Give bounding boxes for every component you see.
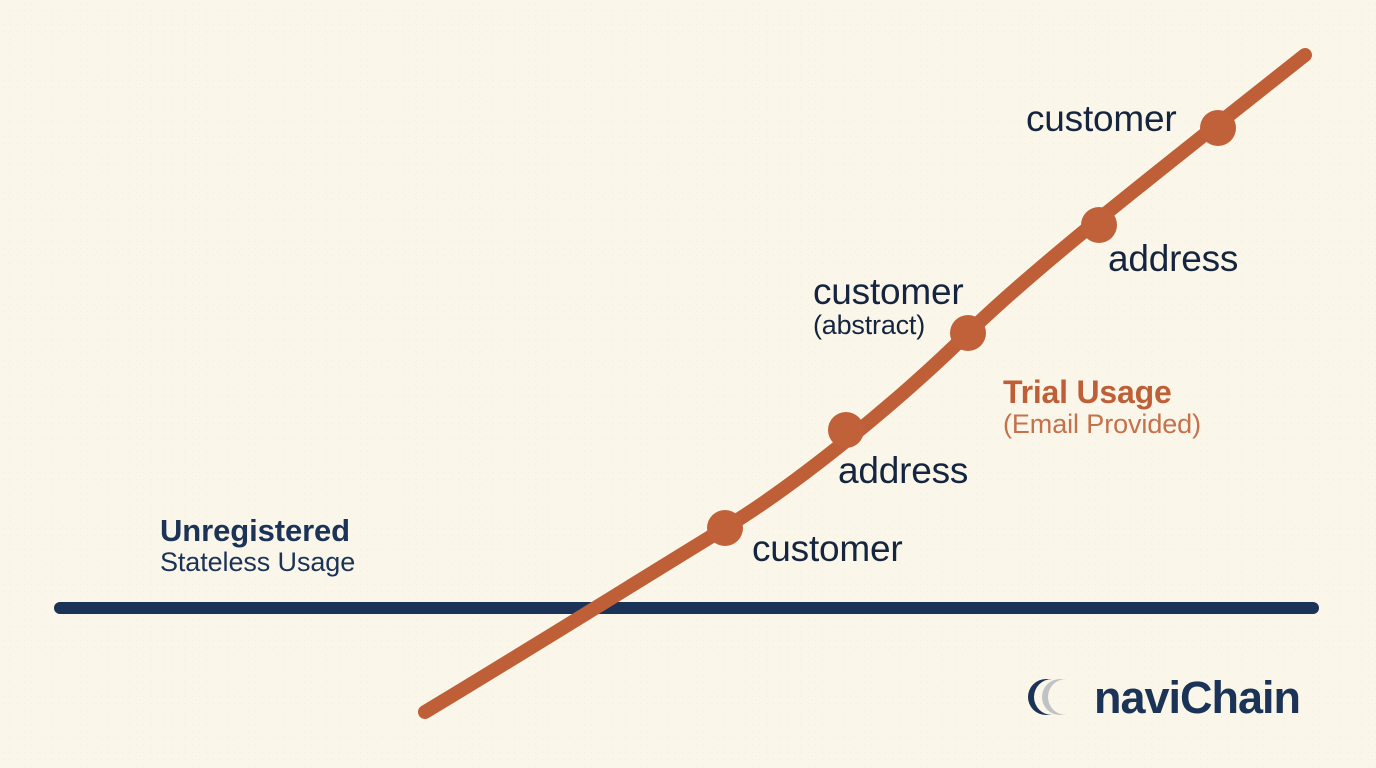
curve-node-customer-2 bbox=[1200, 110, 1236, 146]
node-label-customer-abstract: customer (abstract) bbox=[813, 273, 964, 340]
trial-title: Trial Usage bbox=[1003, 376, 1201, 408]
node-label-address-2-text: address bbox=[1108, 238, 1238, 279]
navichain-wordmark: naviChain bbox=[1094, 675, 1300, 720]
curve-node-address-1 bbox=[828, 412, 864, 448]
node-label-customer-2-text: customer bbox=[1026, 98, 1177, 139]
node-label-address-1-text: address bbox=[838, 450, 968, 491]
trial-tier-label: Trial Usage (Email Provided) bbox=[1003, 376, 1201, 439]
node-label-address-1: address bbox=[838, 452, 968, 489]
unregistered-title: Unregistered bbox=[160, 515, 355, 546]
node-label-customer-2: customer bbox=[1026, 100, 1177, 137]
unregistered-subtitle: Stateless Usage bbox=[160, 549, 355, 577]
node-label-customer-1-text: customer bbox=[752, 528, 903, 569]
trial-subtitle: (Email Provided) bbox=[1003, 411, 1201, 439]
curve-node-customer-1 bbox=[707, 510, 743, 546]
node-label-customer-abstract-sub: (abstract) bbox=[813, 312, 964, 340]
node-label-address-2: address bbox=[1108, 240, 1238, 277]
diagram-canvas: Unregistered Stateless Usage Trial Usage… bbox=[0, 0, 1376, 768]
node-label-customer-1: customer bbox=[752, 530, 903, 567]
unregistered-tier-label: Unregistered Stateless Usage bbox=[160, 515, 355, 577]
navichain-logo: naviChain bbox=[1012, 665, 1300, 729]
interlocking-links-icon bbox=[1012, 669, 1090, 725]
node-label-customer-abstract-text: customer bbox=[813, 271, 964, 312]
